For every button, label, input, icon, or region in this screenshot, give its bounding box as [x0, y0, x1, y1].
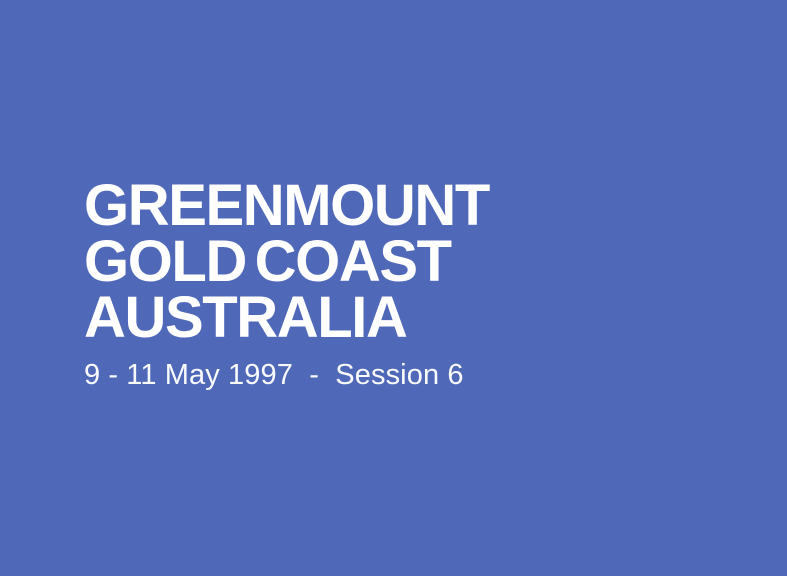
event-subtitle: 9 - 11 May 1997 - Session 6 [84, 358, 744, 392]
title-slide: GREENMOUNT GOLD COAST AUSTRALIA 9 - 11 M… [0, 0, 787, 576]
title-line-location-city: GOLD COAST [84, 234, 744, 290]
title-line-location-country: AUSTRALIA [84, 290, 744, 346]
title-block: GREENMOUNT GOLD COAST AUSTRALIA 9 - 11 M… [84, 178, 744, 392]
title-line-location-venue: GREENMOUNT [84, 178, 744, 234]
